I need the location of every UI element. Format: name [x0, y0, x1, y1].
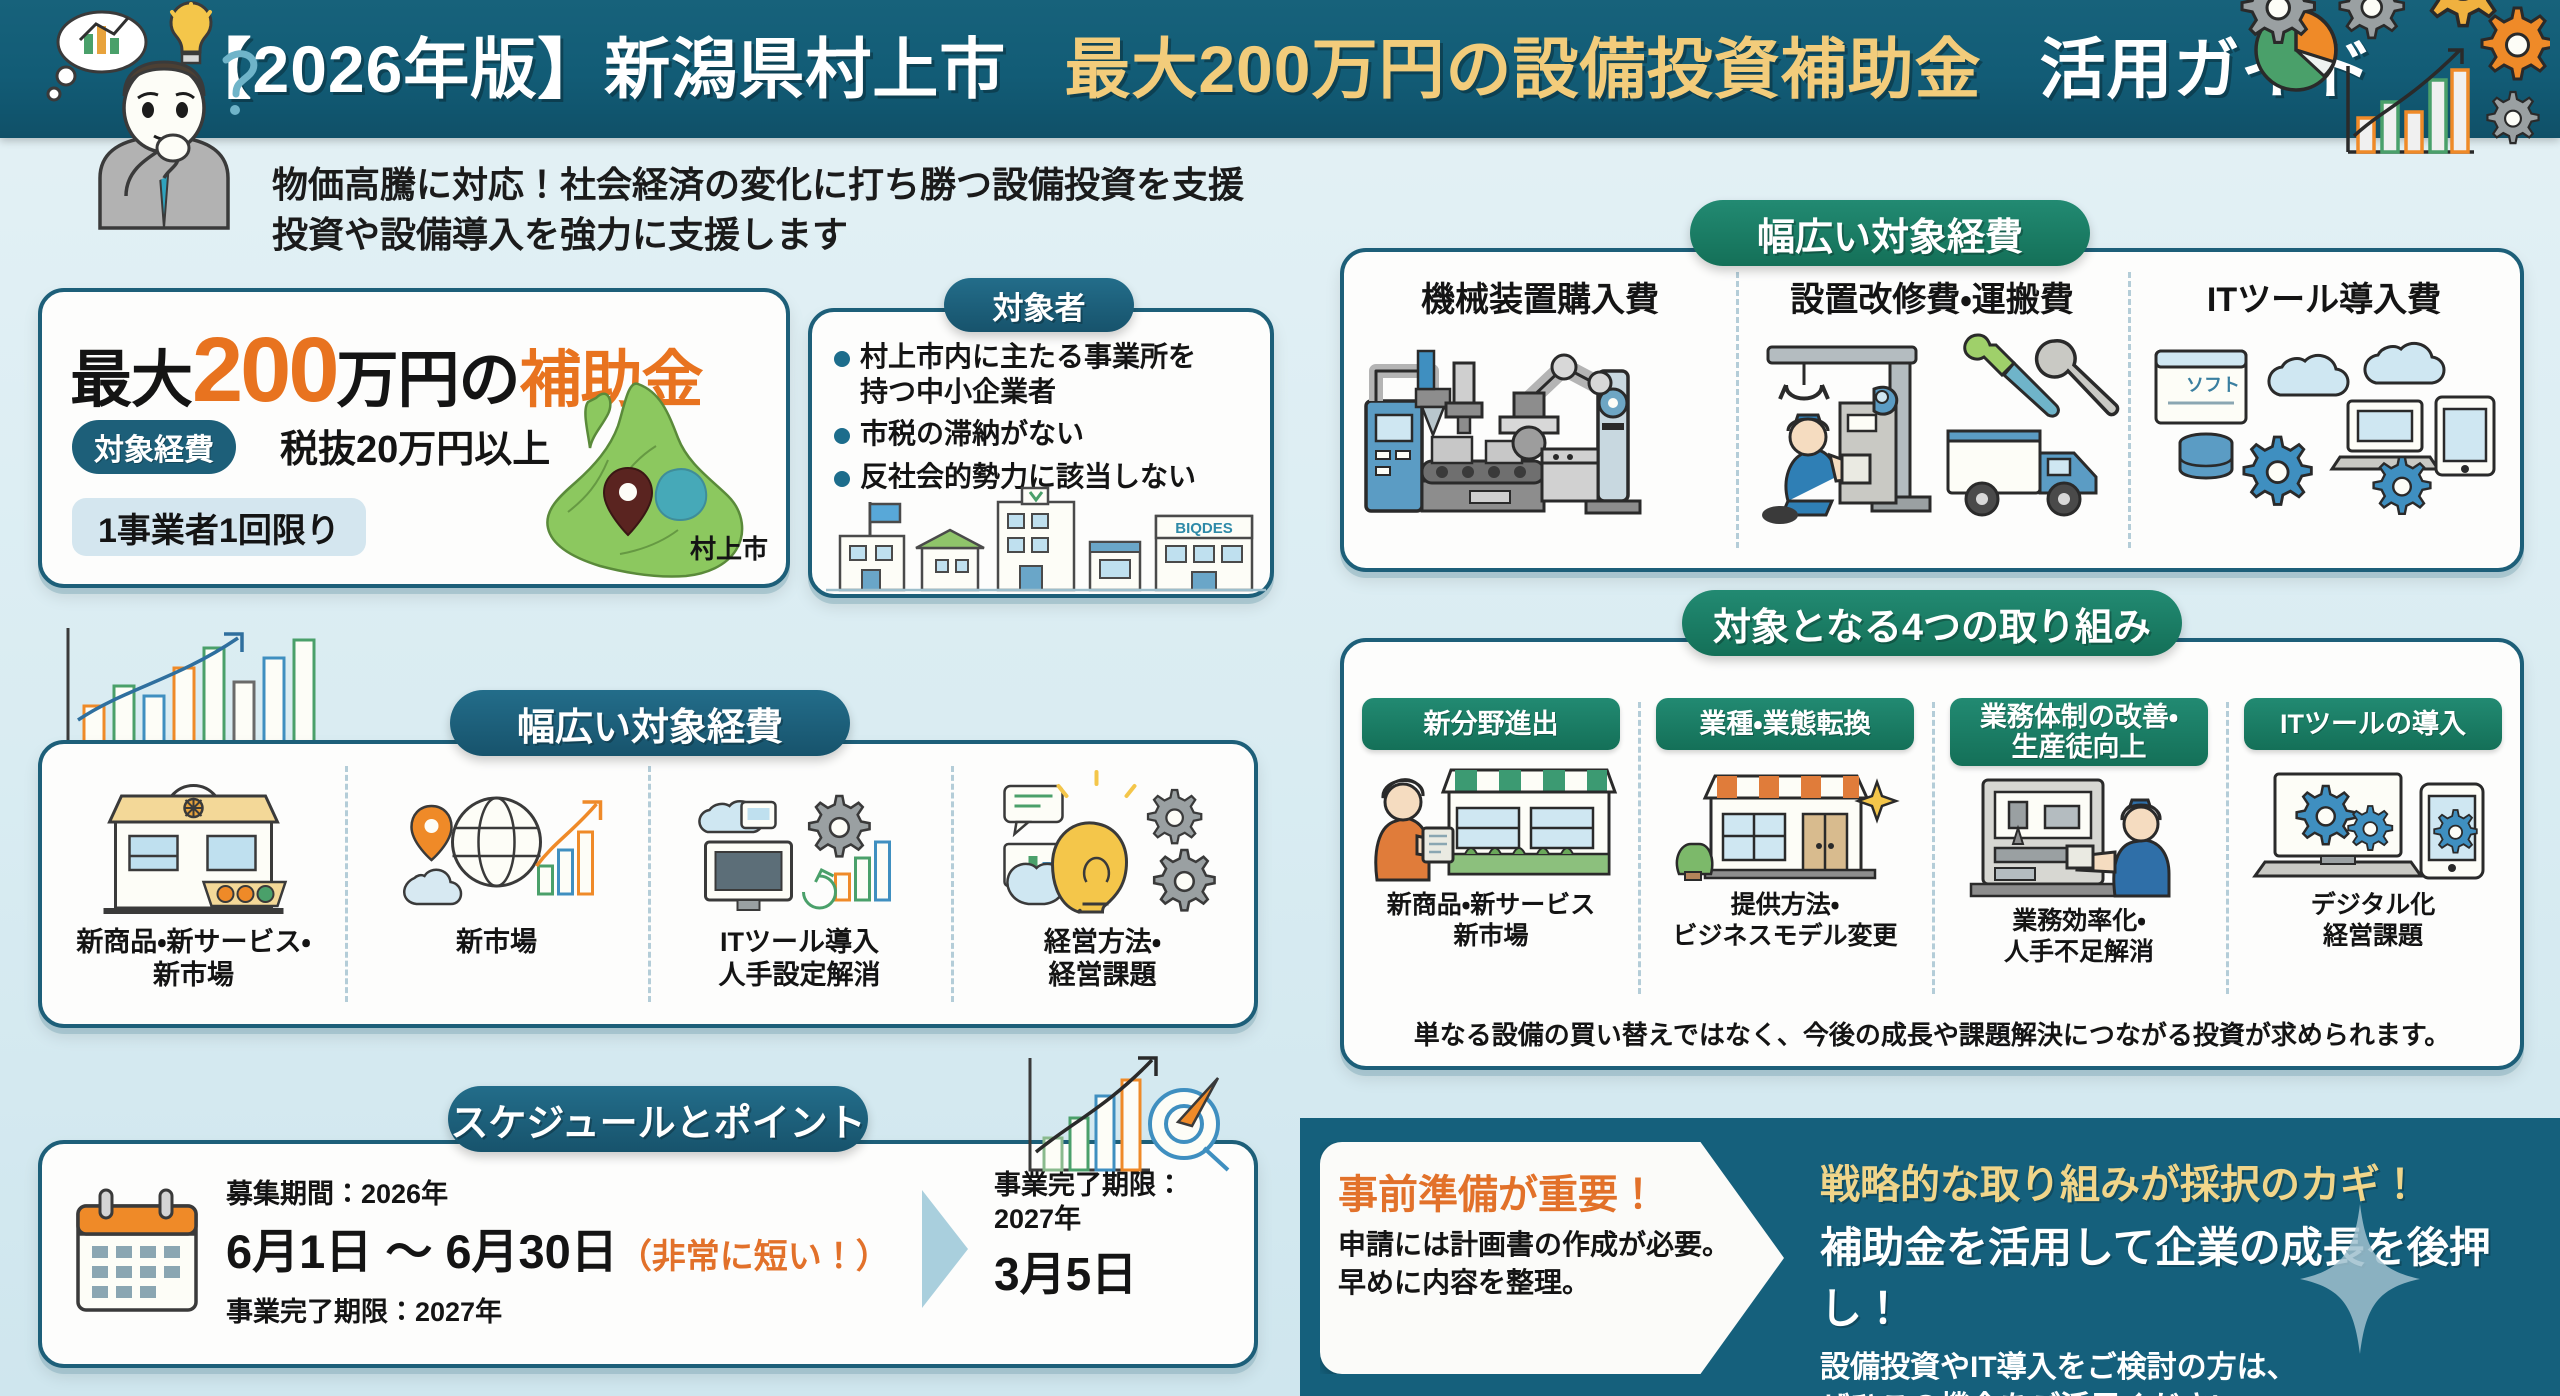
expense-right-card: 機械装置購入費	[1340, 248, 2524, 572]
four-effort-item: ITツールの導入	[2226, 698, 2520, 1004]
expense-right-item: 機械装置購入費	[1344, 252, 1736, 568]
gear-icon	[2244, 437, 2311, 504]
page-title: 【2026年版】新潟県村上市 最大200万円の設備投資補助金 活用ガイド	[185, 36, 2374, 102]
storefront-icon	[42, 770, 345, 920]
gear-icon	[2297, 786, 2355, 844]
shop-owner-tablet-icon	[1344, 758, 1638, 886]
expense-left-caption: 新市場	[456, 926, 537, 959]
gear-icon	[2310, 0, 2540, 88]
four-effort-caption: 業務効率化・ 人手不足解消	[2004, 906, 2154, 967]
eligible-expense-tag: 対象経費	[72, 420, 236, 474]
shop-sign-text: BIQDES	[1175, 520, 1233, 537]
small-shop-icon	[1638, 758, 1932, 886]
expense-left-caption: 新商品・新サービス・ 新市場	[76, 926, 310, 992]
expense-left-item: 新市場	[345, 744, 648, 1024]
grant-headline-pre: 最大	[70, 346, 192, 415]
four-effort-item: 業務体制の改善・ 生産徒向上 業務効率化・ 人手不足解消	[1932, 698, 2226, 1004]
four-effort-caption: 新商品・新サービス 新市場	[1387, 890, 1596, 951]
target-audience-card: 村上市内に主たる事業所を 持つ中小企業者 市税の滞納がない 反社会的勢力に該当し…	[808, 308, 1274, 598]
target-bullet-list: 村上市内に主たる事業所を 持つ中小企業者 市税の滞納がない 反社会的勢力に該当し…	[834, 340, 1264, 503]
cta-message-block: 戦略的な取り組みが採択のカギ！ 補助金を活用して企業の成長を後押し！ 設備投資や…	[1820, 1152, 2560, 1396]
worker-crane-truck-icon	[1736, 331, 2128, 531]
completion-deadline-value: 3月5日	[994, 1238, 1183, 1304]
monitor-smartphone-gear-icon	[2226, 758, 2520, 886]
expense-left-caption: ITツール導入 人手設定解消	[719, 926, 881, 992]
globe-pin-growth-icon	[345, 770, 648, 920]
four-effort-item: 業種・業態転換	[1638, 698, 1932, 1004]
gear-icon	[2374, 457, 2431, 514]
four-effort-chip: 業種・業態転換	[1656, 698, 1915, 750]
application-period-value: 6月1日 ～ 6月30日（非常に短い！）	[226, 1213, 890, 1282]
laptop-cloud-software-icon: ソフト	[2128, 331, 2520, 531]
map-city-label: 村上市	[690, 529, 768, 566]
grant-amount-value: 200	[192, 319, 337, 421]
software-label: ソフト	[2186, 375, 2240, 395]
one-time-limit-tag: 1事業者1回限り	[72, 498, 366, 556]
bullet-dot-icon	[834, 471, 850, 487]
four-effort-chip: 業務体制の改善・ 生産徒向上	[1950, 698, 2209, 766]
four-efforts-card: 新分野進出	[1340, 638, 2524, 1070]
sparkle-icon	[2300, 1204, 2420, 1354]
application-period-label: 募集期間：2026年	[226, 1172, 890, 1211]
factory-robot-arm-icon	[1344, 331, 1736, 531]
cta-heading-gold: 戦略的な取り組みが採択のカギ！	[1820, 1152, 2560, 1210]
cta-heading-white: 補助金を活用して企業の成長を後押し！	[1820, 1214, 2560, 1336]
expense-right-title: 設置改修費・運搬費	[1790, 272, 2074, 321]
four-effort-caption: 提供方法・ ビジネスモデル変更	[1672, 890, 1897, 951]
subtitle-text: 物価高騰に対応！社会経済の変化に打ち勝つ設備投資を支援 投資や設備導入を強力に支…	[272, 160, 1244, 259]
list-item: 市税の滞納がない	[834, 417, 1264, 452]
expense-left-caption: 経営方法・ 経営課題	[1044, 926, 1161, 992]
gear-icon	[2487, 92, 2538, 143]
gear-icon	[2348, 806, 2392, 850]
completion-deadline-line: 事業完了期限：2027年	[226, 1290, 890, 1329]
growth-bar-chart-icon	[56, 628, 346, 752]
four-effort-chip: ITツールの導入	[2244, 698, 2503, 750]
expense-left-item: 新商品・新サービス・ 新市場	[42, 744, 345, 1024]
machine-operator-icon	[1932, 774, 2226, 902]
expense-right-item: 設置改修費・運搬費	[1736, 252, 2128, 568]
title-part-highlight: 最大200万円の設備投資補助金	[1064, 32, 1981, 106]
expense-right-pill: 幅広い対象経費	[1690, 200, 2090, 266]
list-item: 村上市内に主たる事業所を 持つ中小企業者	[834, 340, 1264, 409]
four-efforts-note: 単なる設備の買い替えではなく、今後の成長や課題解決につながる投資が求められます。	[1344, 1015, 2520, 1052]
application-period-dates: 6月1日 ～ 6月30日	[226, 1225, 618, 1278]
schedule-pill: スケジュールとポイント	[448, 1086, 868, 1152]
townscape-buildings-icon: BIQDES	[826, 486, 1266, 594]
four-effort-item: 新分野進出	[1344, 698, 1638, 1004]
four-efforts-pill: 対象となる4つの取り組み	[1682, 590, 2182, 656]
cta-callout-body: 申請には計画書の作成が必要。 早めに内容を整理。	[1338, 1226, 1730, 1301]
four-effort-chip: 新分野進出	[1362, 698, 1621, 750]
cta-callout-heading: 事前準備が重要！	[1338, 1162, 1658, 1220]
page-header: 【2026年版】新潟県村上市 最大200万円の設備投資補助金 活用ガイド	[0, 0, 2560, 138]
gear-icon	[2232, 0, 2342, 72]
application-period-warning: （非常に短い！）	[618, 1238, 890, 1276]
infographic-root: 【2026年版】新潟県村上市 最大200万円の設備投資補助金 活用ガイド	[0, 0, 2560, 1396]
target-bullet-text: 市税の滞納がない	[860, 417, 1084, 452]
expense-left-item: 経営方法・ 経営課題	[951, 744, 1254, 1024]
grant-amount-card: 最大200万円の補助金 対象経費 税抜20万円以上 1事業者1回限り . 村上市	[38, 288, 790, 588]
growth-chart-target-icon	[1022, 1052, 1232, 1182]
target-audience-pill: 対象者	[944, 278, 1134, 332]
bullet-dot-icon	[834, 351, 850, 367]
cta-body: 設備投資やIT導入をご検討の方は、 ぜひこの機会をご活用ください。	[1820, 1348, 2560, 1396]
schedule-right-block: 事業完了期限： 2027年 3月5日	[994, 1168, 1183, 1304]
target-bullet-text: 村上市内に主たる事業所を 持つ中小企業者	[860, 340, 1196, 409]
expense-right-item: ITツール導入費 ソフト	[2128, 252, 2520, 568]
cta-banner: 事前準備が重要！ 申請には計画書の作成が必要。 早めに内容を整理。 戦略的な取り…	[1300, 1118, 2560, 1396]
expense-left-item: ITツール導入 人手設定解消	[648, 744, 951, 1024]
bullet-dot-icon	[834, 428, 850, 444]
expense-left-card: 新商品・新サービス・ 新市場 新市場	[38, 740, 1258, 1028]
calendar-icon	[72, 1188, 202, 1316]
schedule-arrow-icon	[922, 1190, 968, 1308]
monitor-gear-cloud-icon	[648, 770, 951, 920]
lightbulb-idea-gear-icon	[951, 770, 1254, 920]
expense-left-pill: 幅広い対象経費	[450, 690, 850, 756]
expense-right-title: ITツール導入費	[2207, 272, 2441, 321]
gear-icon	[2434, 810, 2477, 853]
expense-right-title: 機械装置購入費	[1421, 272, 1659, 321]
four-effort-caption: デジタル化 経営課題	[2311, 890, 2436, 951]
schedule-card: 募集期間：2026年 6月1日 ～ 6月30日（非常に短い！） 事業完了期限：2…	[38, 1140, 1258, 1368]
schedule-left-block: 募集期間：2026年 6月1日 ～ 6月30日（非常に短い！） 事業完了期限：2…	[226, 1172, 890, 1329]
